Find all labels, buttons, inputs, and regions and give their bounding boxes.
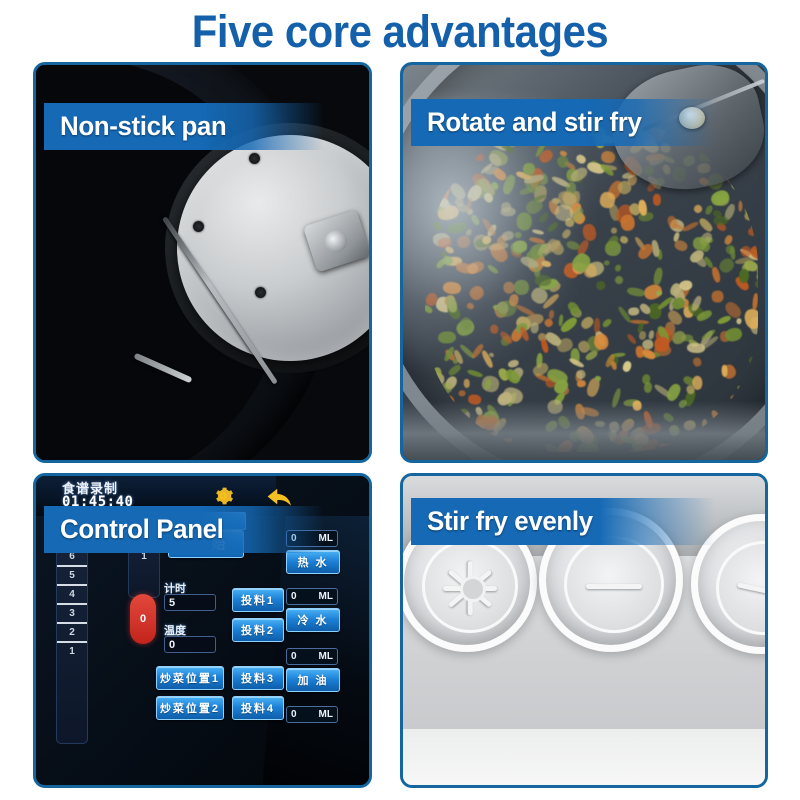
feed-1-button[interactable]: 投料1 (232, 588, 284, 612)
temperature-field-input[interactable]: 0 (164, 636, 216, 653)
card-label-text: Rotate and stir fry (427, 107, 642, 138)
slider-left-tick: 5 (57, 567, 87, 586)
back-arrow-icon[interactable] (266, 486, 294, 508)
oil-amount-value: 0 (291, 651, 297, 662)
card-label-text: Stir fry evenly (427, 506, 593, 537)
card-label-banner-stir-fry-evenly: Stir fry evenly (411, 498, 715, 545)
cook-position-2-button[interactable]: 炒菜位置2 (156, 696, 224, 720)
card-label-banner-control-panel: Control Panel (44, 506, 324, 553)
card-label-banner-rotate-and-stir-fry: Rotate and stir fry (411, 99, 715, 146)
oil-amount[interactable]: 0 ML (286, 648, 338, 665)
gear-icon[interactable] (212, 485, 234, 507)
doser-4-amount[interactable]: 0 ML (286, 706, 338, 723)
slider-left-tick: 1 (57, 643, 87, 660)
cold-water-button[interactable]: 冷 水 (286, 608, 340, 632)
feed-4-button[interactable]: 投料4 (232, 696, 284, 720)
feed-2-button[interactable]: 投料2 (232, 618, 284, 642)
slider-left-tick: 2 (57, 624, 87, 643)
cold-water-amount-value: 0 (291, 591, 297, 602)
cook-position-1-button[interactable]: 炒菜位置1 (156, 666, 224, 690)
slider-right-level[interactable]: 0 (130, 594, 156, 644)
slider-left-tick: 4 (57, 586, 87, 605)
oil-button[interactable]: 加 油 (286, 668, 340, 692)
hot-water-button[interactable]: 热 水 (286, 550, 340, 574)
doser-4-amount-unit: ML (319, 709, 333, 720)
oil-amount-unit: ML (319, 651, 333, 662)
feature-card-control-panel[interactable]: 食谱录制 01:45:40 (33, 473, 372, 788)
promo-page: Five core advantages Non-stick pan (0, 0, 800, 800)
feature-card-grid: Non-stick pan Rotate and stir fry (33, 62, 768, 782)
slider-left-tick: 3 (57, 605, 87, 624)
cold-water-amount[interactable]: 0 ML (286, 588, 338, 605)
feed-3-button[interactable]: 投料3 (232, 666, 284, 690)
card-label-text: Non-stick pan (60, 111, 226, 142)
cold-water-amount-unit: ML (319, 591, 333, 602)
page-title: Five core advantages (28, 4, 772, 60)
control-panel-body: 0 0 7 6 5 4 3 2 1 2 (36, 516, 369, 785)
slider-left[interactable]: 7 6 5 4 3 2 1 (56, 528, 88, 744)
card-label-banner-non-stick-pan: Non-stick pan (44, 103, 324, 150)
feature-card-stir-fry-evenly[interactable]: Stir fry evenly (400, 473, 768, 788)
feature-card-rotate-and-stir-fry[interactable]: Rotate and stir fry (400, 62, 768, 463)
doser-4-amount-value: 0 (291, 709, 297, 720)
timer-field-input[interactable]: 5 (164, 594, 216, 611)
card-label-text: Control Panel (60, 514, 224, 545)
feature-card-non-stick-pan[interactable]: Non-stick pan (33, 62, 372, 463)
